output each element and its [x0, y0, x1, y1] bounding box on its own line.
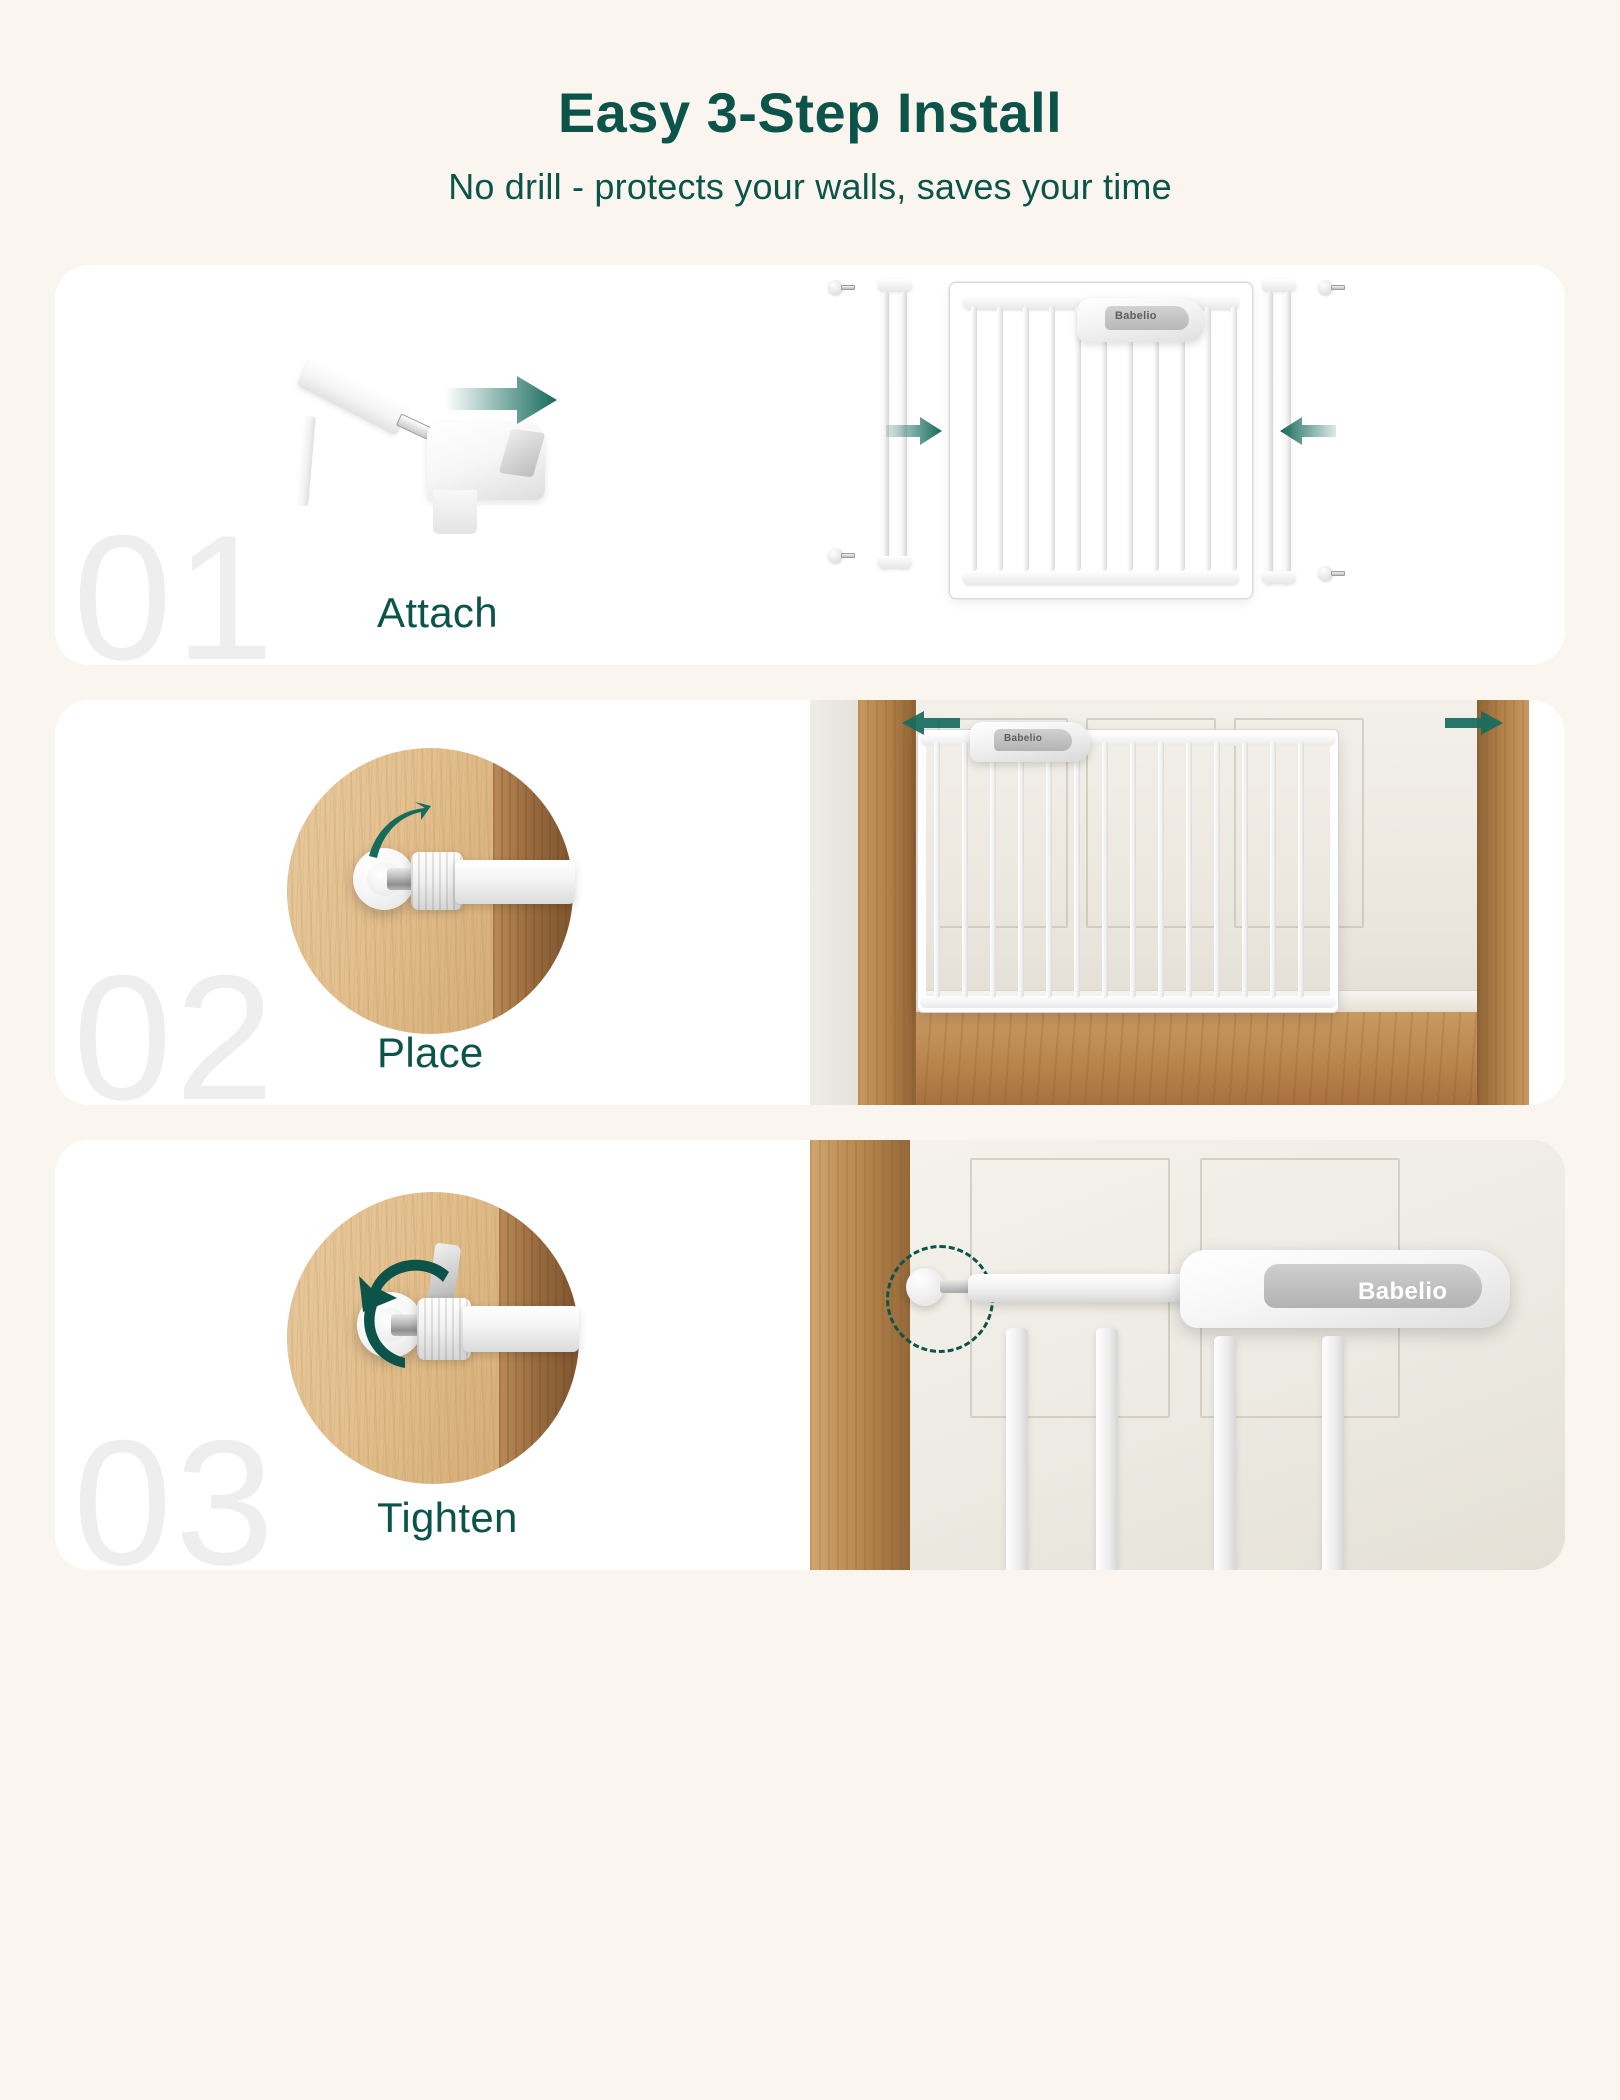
- gate-handle: Babelio: [1077, 298, 1205, 342]
- rotate-arrow-icon: [331, 1236, 481, 1391]
- gate-bar: [1096, 1328, 1118, 1570]
- gate-closeup-photo: Babelio: [810, 1140, 1565, 1570]
- gate-rod-icon: [968, 1274, 1208, 1302]
- gate-rod-icon: [455, 860, 575, 904]
- step-01-diagram-panel: 01 Attach: [55, 265, 810, 665]
- step-card-01: 01 Attach: [55, 265, 1565, 665]
- bracket-attach-illustration: [255, 360, 585, 560]
- wall-cup-icon: [906, 1268, 944, 1306]
- gate-handle: Babelio: [970, 722, 1090, 762]
- wall-cup-icon: [828, 279, 854, 297]
- arrow-right-icon: [443, 370, 563, 435]
- step-card-03: 03 Tighten Babelio: [55, 1140, 1565, 1570]
- door-jamb-left: [858, 700, 916, 1105]
- door-jamb-right: [1477, 700, 1529, 1105]
- step-01-product-panel: Babelio: [810, 265, 1565, 665]
- gate-exploded-scene: Babelio: [810, 265, 1565, 665]
- wood-floor: [898, 1012, 1529, 1105]
- step-number-02: 02: [73, 949, 277, 1105]
- step-02-photo-panel: Babelio: [810, 700, 1565, 1105]
- wall-cup-icon: [828, 547, 854, 565]
- step-number-01: 01: [73, 509, 277, 665]
- arrow-up-icon: [363, 800, 433, 867]
- brand-label: Babelio: [1115, 310, 1157, 322]
- step-02-diagram-panel: 02 Place: [55, 700, 810, 1105]
- gate-handle: Babelio: [1180, 1250, 1510, 1328]
- step-card-02: 02 Place: [55, 700, 1565, 1105]
- gate-bar: [1322, 1336, 1344, 1570]
- arrow-left-icon: [902, 710, 960, 741]
- step-label-03: Tighten: [377, 1494, 518, 1542]
- door-jamb-left: [810, 1140, 910, 1570]
- steps-container: 01 Attach: [0, 0, 1620, 2100]
- brand-label: Babelio: [1358, 1278, 1447, 1306]
- socket-foot-icon: [433, 490, 477, 534]
- wall-cup-icon: [1318, 279, 1344, 297]
- arrow-right-icon: [886, 415, 942, 452]
- gate-bars: [967, 306, 1235, 571]
- step-label-01: Attach: [377, 589, 498, 637]
- gate-bar: [1006, 1328, 1028, 1570]
- doorway-photo: Babelio: [810, 700, 1565, 1105]
- arrow-left-icon: [1280, 415, 1336, 452]
- gate-bars: [928, 742, 1328, 998]
- bracket-stem-icon: [295, 416, 316, 507]
- step-number-03: 03: [73, 1414, 277, 1570]
- installed-gate: Babelio: [918, 730, 1338, 1012]
- step-03-photo-panel: Babelio: [810, 1140, 1565, 1570]
- arrow-right-icon: [1445, 710, 1503, 741]
- brand-label: Babelio: [1004, 733, 1042, 744]
- step-label-02: Place: [377, 1029, 484, 1077]
- gate-bar: [1214, 1336, 1236, 1570]
- wall-cup-icon: [1318, 565, 1344, 583]
- safety-gate-frame: Babelio: [950, 283, 1252, 598]
- step-03-diagram-panel: 03 Tighten: [55, 1140, 810, 1570]
